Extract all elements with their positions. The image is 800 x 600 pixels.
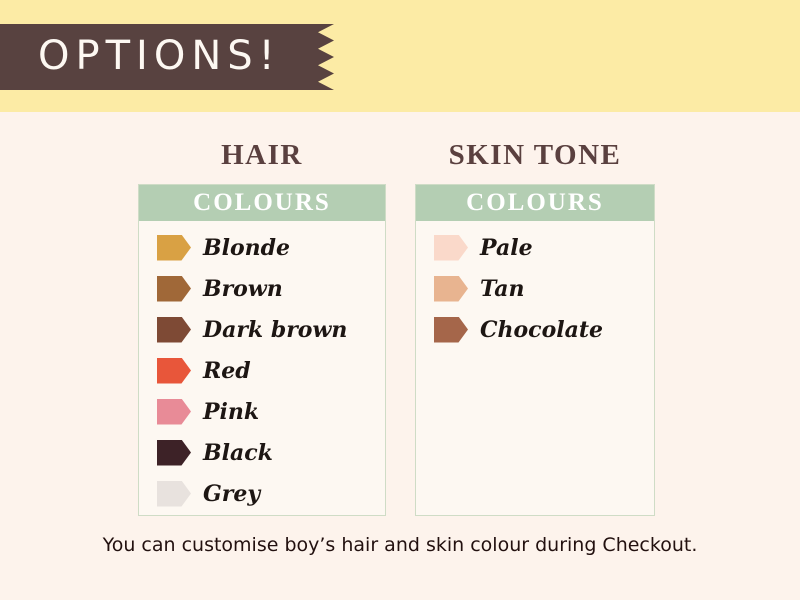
column-title-skin-tone: SKIN TONE [415,112,655,174]
colour-label: Dark brown [203,319,347,341]
colour-label: Pink [203,401,259,423]
colour-label: Pale [480,237,533,259]
list-item[interactable]: Pink [139,391,385,432]
list-item[interactable]: Brown [139,268,385,309]
column-skin-tone: SKIN TONE COLOURS Pale Tan Chocolate [415,112,655,516]
card-skin-tone-colours: COLOURS Pale Tan Chocolate [415,184,655,516]
colour-swatch-icon [157,399,191,425]
colour-swatch-icon [157,358,191,384]
colour-swatch-icon [157,481,191,507]
colour-label: Grey [203,483,260,505]
banner-title: OPTIONS! [38,24,298,90]
options-columns: HAIR COLOURS Blonde Brown Dark brown [0,112,800,532]
options-page: OPTIONS! HAIR COLOURS Blonde Brown [0,0,800,600]
colour-swatch-icon [434,317,468,343]
colour-label: Tan [480,278,525,300]
card-hair-colours: COLOURS Blonde Brown Dark brown [138,184,386,516]
card-header-hair: COLOURS [139,185,385,221]
colour-swatch-icon [434,276,468,302]
hair-colour-list: Blonde Brown Dark brown Red [139,221,385,514]
list-item[interactable]: Grey [139,473,385,514]
colour-swatch-icon [157,317,191,343]
colour-swatch-icon [157,440,191,466]
list-item[interactable]: Dark brown [139,309,385,350]
column-title-hair: HAIR [138,112,386,174]
colour-label: Chocolate [480,319,603,341]
list-item[interactable]: Blonde [139,227,385,268]
ribbon-zigzag-edge [312,24,334,90]
column-hair: HAIR COLOURS Blonde Brown Dark brown [138,112,386,516]
card-header-skin-tone: COLOURS [416,185,654,221]
footer-caption: You can customise boy’s hair and skin co… [0,534,800,556]
skin-tone-colour-list: Pale Tan Chocolate [416,221,654,350]
colour-swatch-icon [157,235,191,261]
list-item[interactable]: Black [139,432,385,473]
banner-ribbon: OPTIONS! [0,24,335,90]
list-item[interactable]: Tan [416,268,654,309]
colour-label: Black [203,442,273,464]
list-item[interactable]: Chocolate [416,309,654,350]
colour-label: Blonde [203,237,290,259]
list-item[interactable]: Red [139,350,385,391]
colour-swatch-icon [434,235,468,261]
colour-label: Red [203,360,251,382]
banner-band: OPTIONS! [0,0,800,112]
colour-swatch-icon [157,276,191,302]
list-item[interactable]: Pale [416,227,654,268]
colour-label: Brown [203,278,283,300]
